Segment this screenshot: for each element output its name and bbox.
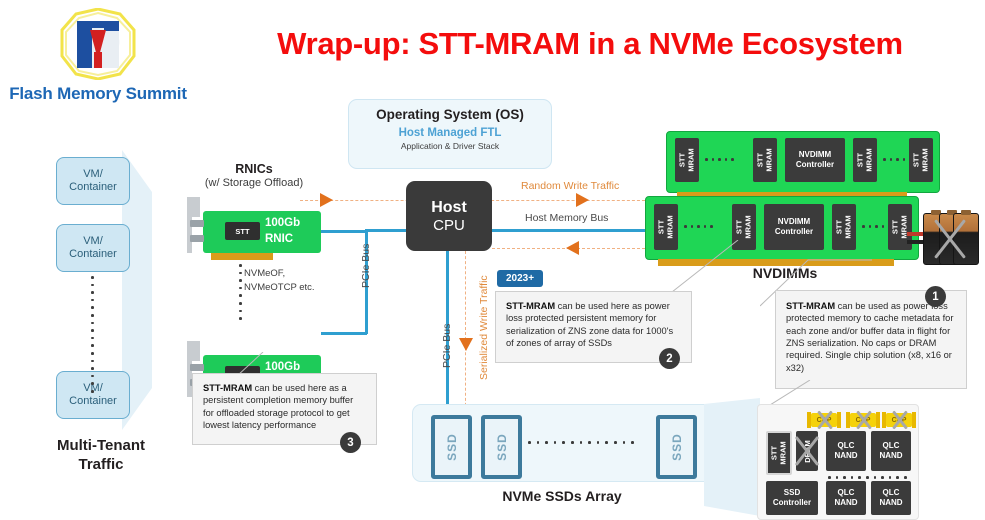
rnic2-bus-line (321, 332, 367, 335)
host-memory-bus-line (492, 229, 650, 232)
qlc-nand-label: QLCNAND (834, 441, 857, 461)
stt-mram-chip: STTMRAM (766, 431, 792, 475)
rnic-subtitle: (w/ Storage Offload) (162, 177, 346, 189)
return-traffic-arrow-icon (566, 241, 579, 255)
stt-mram-chip-label: STTMRAM (856, 148, 874, 171)
callout-2-lead: STT-MRAM (506, 301, 555, 311)
nvme-ssd-array-box: SSD SSD SSD (412, 404, 714, 482)
ssd-controller-label: SSDController (773, 488, 811, 508)
multi-tenant-line1: Multi-Tenant (57, 437, 145, 454)
rnic-port-icon (190, 220, 204, 227)
host-cpu-block: Host CPU (406, 181, 492, 251)
multi-tenant-traffic-label: Multi-Tenant Traffic (28, 437, 174, 475)
stt-mram-chip-label: STTMRAM (835, 215, 853, 238)
cross-out-icon (814, 409, 836, 431)
ssd-zoom-wedge (704, 398, 764, 518)
chip-ellipsis-dots (862, 225, 891, 228)
qlc-nand-chip: QLCNAND (871, 431, 911, 471)
os-caption: Application & Driver Stack (349, 141, 551, 151)
rnic-card-1: STT 100Gb RNIC (203, 211, 321, 253)
vm-label-line1: VM/ (57, 168, 129, 181)
callout-1-badge: 1 (925, 286, 946, 307)
random-write-arrow-icon (576, 193, 589, 207)
ssd-unit: SSD (656, 415, 697, 479)
stt-mram-chip: STTMRAM (753, 138, 777, 182)
stt-mram-chip: STTMRAM (853, 138, 877, 182)
cross-out-icon (853, 409, 875, 431)
chip-ellipsis-dots (705, 158, 734, 161)
protocol-line2: NVMeOTCP etc. (244, 282, 315, 293)
host-cpu-line1: Host (406, 199, 492, 217)
callout-3-lead: STT-MRAM (203, 383, 252, 393)
operating-system-box: Operating System (OS) Host Managed FTL A… (348, 99, 552, 169)
multi-tenant-line2: Traffic (78, 456, 123, 473)
pcie-bus-label-1: PCIe Bus (360, 244, 372, 288)
chip-ellipsis-dots (684, 225, 713, 228)
qlc-nand-chip: QLCNAND (826, 431, 866, 471)
pcie-to-cpu-line (365, 229, 407, 232)
rnic-bracket (187, 197, 200, 217)
page-title: Wrap-up: STT-MRAM in a NVMe Ecosystem (200, 26, 980, 62)
callout-1-lead: STT-MRAM (786, 301, 835, 311)
qlc-nand-label: QLCNAND (879, 441, 902, 461)
os-subtitle: Host Managed FTL (349, 127, 551, 139)
stt-chip: STT (225, 222, 260, 240)
stt-mram-chip-label: STTMRAM (912, 148, 930, 171)
chip-ellipsis-dots (883, 158, 912, 161)
stt-mram-chip-label: STTMRAM (678, 148, 696, 171)
nand-ellipsis-dots (828, 476, 907, 479)
ssd-label: SSD (495, 433, 509, 461)
stt-mram-chip-label: STTMRAM (770, 441, 788, 464)
vm-container-box: VM/ Container (56, 157, 130, 205)
brand-logo: Flash Memory Summit (8, 6, 188, 106)
nvme-protocol-label: NVMeOF, NVMeOTCP etc. (244, 267, 354, 295)
pcie-bus-label-2: PCIe Bus (441, 324, 453, 368)
protocol-line1: NVMeOF, (244, 268, 285, 279)
stt-mram-chip: STTMRAM (909, 138, 933, 182)
serialized-write-dash-line (465, 251, 466, 411)
callout-3-badge: 3 (340, 432, 361, 453)
serialized-write-traffic-label: Serialized Write Traffic (478, 275, 490, 380)
random-write-traffic-label: Random Write Traffic (521, 180, 619, 192)
stt-mram-chip: STTMRAM (675, 138, 699, 182)
ssd-internals-panel: CAP CAP CAP STTMRAM DRAM QLCNAND QLCNAND… (757, 404, 919, 520)
brand-name: Flash Memory Summit (8, 84, 188, 104)
callout-2-leader-line (600, 240, 740, 298)
rnic-port-icon (190, 235, 204, 242)
vm-container-box: VM/ Container (56, 224, 130, 272)
callout-2-badge: 2 (659, 348, 680, 369)
ssd-unit: SSD (431, 415, 472, 479)
stt-mram-chip: STTMRAM (832, 204, 856, 250)
rnic-title: RNICs (170, 162, 338, 176)
nvdimm-controller-label: NVDIMMController (796, 150, 834, 170)
cross-out-icon (889, 409, 911, 431)
qlc-nand-chip: QLCNAND (826, 481, 866, 515)
ssd-controller-chip: SSDController (766, 481, 818, 515)
cross-out-icon (927, 215, 973, 263)
callout-1-text: STT-MRAM can be used as power loss prote… (786, 300, 956, 374)
ssd-label: SSD (670, 433, 684, 461)
random-write-arrow-icon (320, 193, 333, 207)
vm-label-line1: VM/ (57, 235, 129, 248)
callout-2-text: STT-MRAM can be used here as power loss … (506, 300, 681, 349)
vm-label-line2: Container (57, 395, 129, 408)
nvdimm-module-back: STTMRAM STTMRAM NVDIMMController STTMRAM… (666, 131, 940, 193)
rnic-gold-fingers (211, 253, 273, 260)
vm-ellipsis-dots (91, 276, 93, 398)
vm-label-line2: Container (57, 248, 129, 261)
nvdimm-controller-chip: NVDIMMController (785, 138, 845, 182)
vm-container-box: VM/ Container (56, 371, 130, 419)
qlc-nand-chip: QLCNAND (871, 481, 911, 515)
rnic-ellipsis-dots (239, 264, 241, 325)
nvdimm-controller-label: NVDIMMController (775, 217, 813, 237)
battery-crossed-out (921, 207, 979, 269)
ssd-ellipsis-dots (528, 441, 634, 444)
callout-3-text: STT-MRAM can be used here as a persisten… (203, 382, 366, 431)
rnic-type: RNIC (265, 233, 293, 245)
traffic-funnel-shape (122, 150, 184, 430)
stt-mram-chip-label: STTMRAM (756, 148, 774, 171)
rnic-speed: 100Gb (265, 217, 300, 229)
cross-out-icon (795, 433, 819, 469)
stt-mram-chip-label: STTMRAM (735, 215, 753, 238)
vm-label-line2: Container (57, 181, 129, 194)
nvdimm-controller-chip: NVDIMMController (764, 204, 824, 250)
qlc-nand-label: QLCNAND (879, 488, 902, 508)
rnic-bracket (187, 341, 200, 361)
rnic-port-icon (190, 364, 204, 371)
host-cpu-line2: CPU (406, 217, 492, 234)
serialized-write-arrow-icon (459, 338, 473, 351)
os-title: Operating System (OS) (349, 107, 551, 122)
stt-mram-chip-label: STTMRAM (657, 215, 675, 238)
rnic1-bus-line (321, 230, 367, 233)
host-memory-bus-label: Host Memory Bus (525, 212, 608, 224)
ssd-label: SSD (445, 433, 459, 461)
ssd-unit: SSD (481, 415, 522, 479)
nvme-ssd-array-label: NVMe SSDs Array (432, 488, 692, 504)
qlc-nand-label: QLCNAND (834, 488, 857, 508)
rnic-card-label: 100Gb RNIC (265, 216, 300, 247)
year-badge: 2023+ (497, 270, 543, 287)
flash-memory-summit-logo-icon (60, 8, 136, 80)
